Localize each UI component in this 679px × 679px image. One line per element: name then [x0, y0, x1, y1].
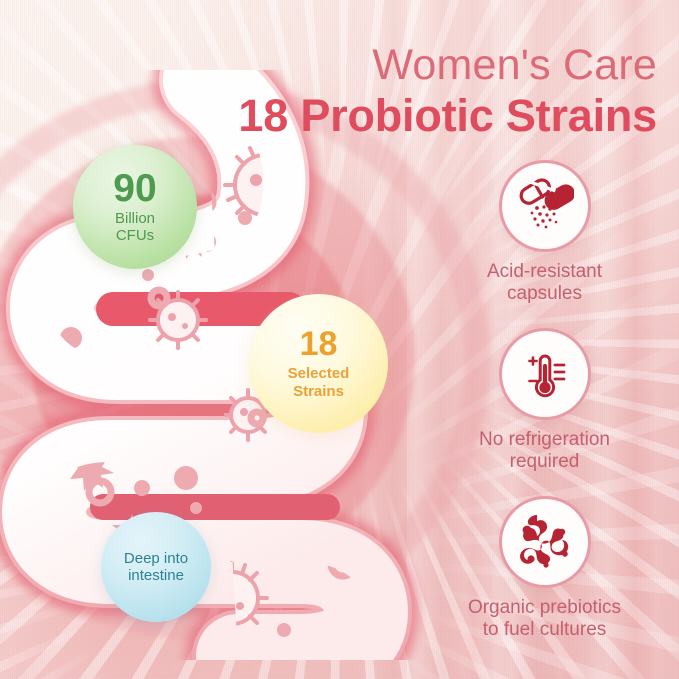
- badge-deep-into-intestine: Deep into intestine: [101, 512, 211, 622]
- headline-line-1: Women's Care: [238, 44, 657, 87]
- capsule-icon: [499, 160, 591, 252]
- badge-cfu-caption: Billion CFUs: [115, 211, 155, 245]
- feature-label-refrigeration: No refrigeration required: [432, 429, 657, 474]
- feature-label-prebiotics: Organic prebiotics to fuel cultures: [432, 597, 657, 642]
- headline-line-2: 18 Probiotic Strains: [238, 93, 657, 138]
- infographic-canvas: Women's Care 18 Probiotic Strains 90 Bil…: [0, 0, 679, 679]
- badge-cfu-count: 90 Billion CFUs: [73, 145, 197, 269]
- thermometer-icon: [499, 328, 591, 420]
- culture-blob-icon: [499, 496, 591, 588]
- badge-cfu-value: 90: [113, 169, 156, 208]
- culture-blobs: [520, 515, 568, 568]
- badge-selected-strains: 18 Selected Strains: [249, 294, 388, 433]
- feature-no-refrigeration: No refrigeration required: [432, 328, 657, 474]
- intestine-illustration: [0, 70, 470, 660]
- badge-strains-caption: Selected Strains: [288, 365, 350, 400]
- feature-label-capsules: Acid-resistant capsules: [432, 261, 657, 306]
- feature-acid-resistant-capsules: Acid-resistant capsules: [432, 160, 657, 306]
- feature-list: Acid-resistant capsules: [432, 160, 657, 641]
- headline: Women's Care 18 Probiotic Strains: [238, 44, 657, 138]
- badge-deep-caption: Deep into intestine: [124, 550, 188, 584]
- feature-organic-prebiotics: Organic prebiotics to fuel cultures: [432, 496, 657, 642]
- badge-strains-value: 18: [300, 327, 338, 361]
